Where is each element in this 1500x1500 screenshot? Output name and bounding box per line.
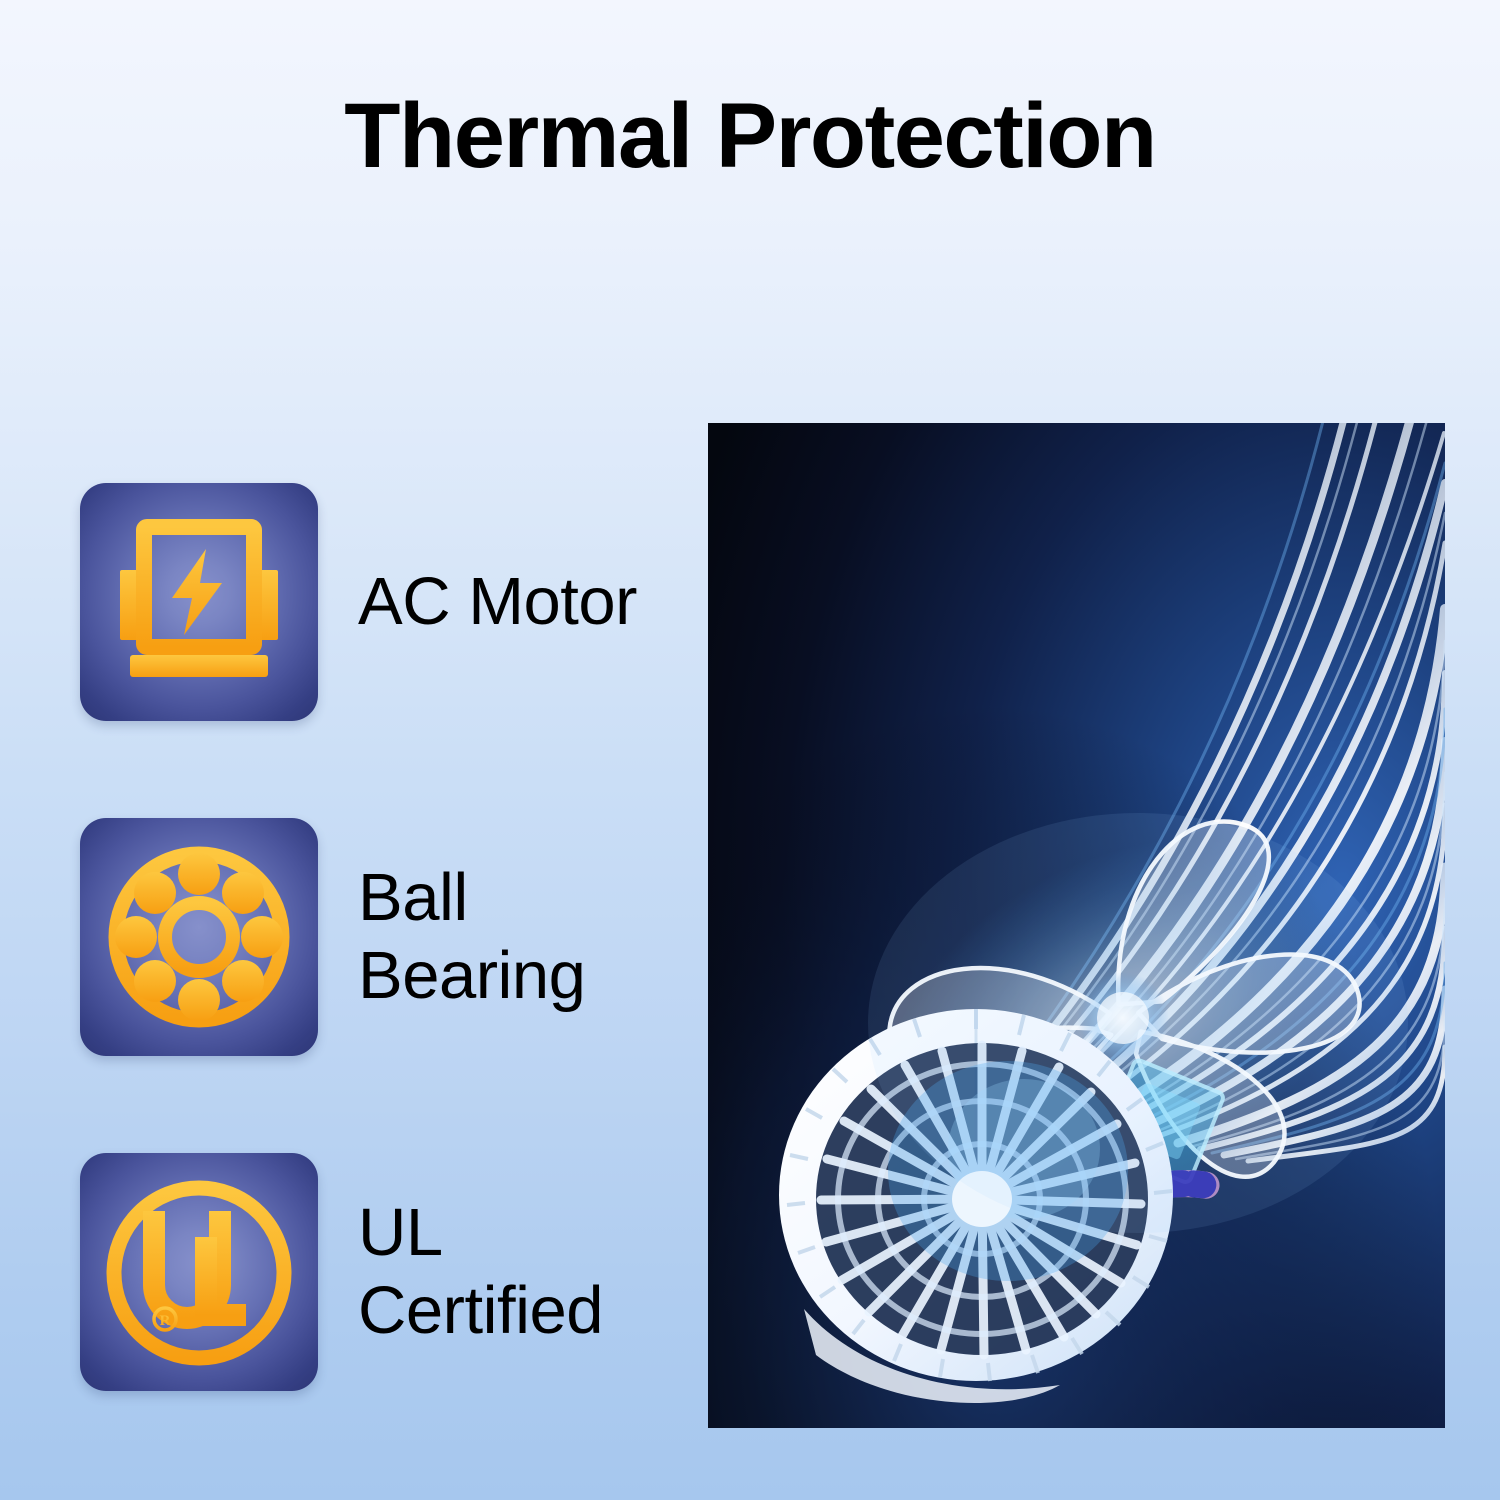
feature-row-ac-motor: AC Motor (80, 483, 680, 721)
feature-label-ball-bearing: Ball Bearing (358, 859, 585, 1016)
feature-tile-ball-bearing (80, 818, 318, 1056)
feature-row-ul-certified: R UL Certified (80, 1153, 680, 1391)
feature-label-ul-certified: UL Certified (358, 1194, 603, 1351)
svg-text:R: R (160, 1313, 171, 1329)
product-illustration (708, 423, 1445, 1428)
feature-tile-ul-certified: R (80, 1153, 318, 1391)
feature-row-ball-bearing: Ball Bearing (80, 818, 680, 1056)
feature-tile-ac-motor (80, 483, 318, 721)
feature-list: AC Motor (80, 483, 680, 1391)
product-image (708, 423, 1445, 1428)
feature-label-ac-motor: AC Motor (358, 563, 637, 641)
page-title: Thermal Protection (0, 88, 1500, 185)
